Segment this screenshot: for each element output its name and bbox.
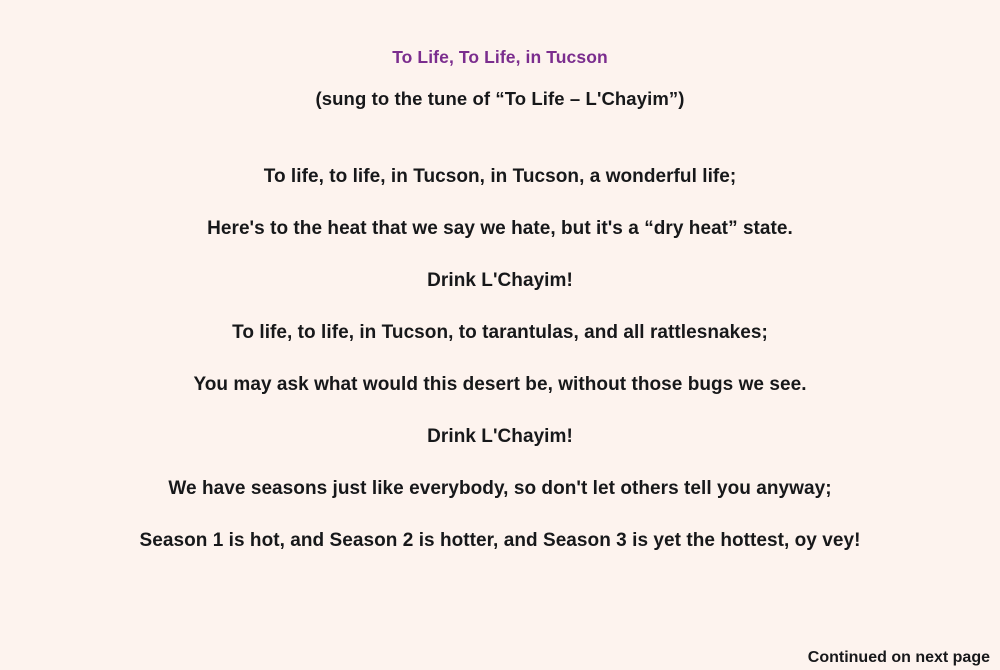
page-subtitle: (sung to the tune of “To Life – L'Chayim… [0,88,1000,110]
continued-notice: Continued on next page [0,648,990,667]
lyric-line: Drink L'Chayim! [0,424,1000,450]
lyric-line: You may ask what would this desert be, w… [0,372,1000,398]
lyric-line: To life, to life, in Tucson, in Tucson, … [0,164,1000,190]
lyric-line: Season 1 is hot, and Season 2 is hotter,… [0,528,1000,554]
lyric-line: Drink L'Chayim! [0,268,1000,294]
page-title: To Life, To Life, in Tucson [0,47,1000,68]
lyric-line: Here's to the heat that we say we hate, … [0,216,1000,242]
lyrics-body: To life, to life, in Tucson, in Tucson, … [0,164,1000,580]
lyric-line: We have seasons just like everybody, so … [0,476,1000,502]
lyric-line: To life, to life, in Tucson, to tarantul… [0,320,1000,346]
song-lyrics-slide: To Life, To Life, in Tucson (sung to the… [0,0,1000,670]
